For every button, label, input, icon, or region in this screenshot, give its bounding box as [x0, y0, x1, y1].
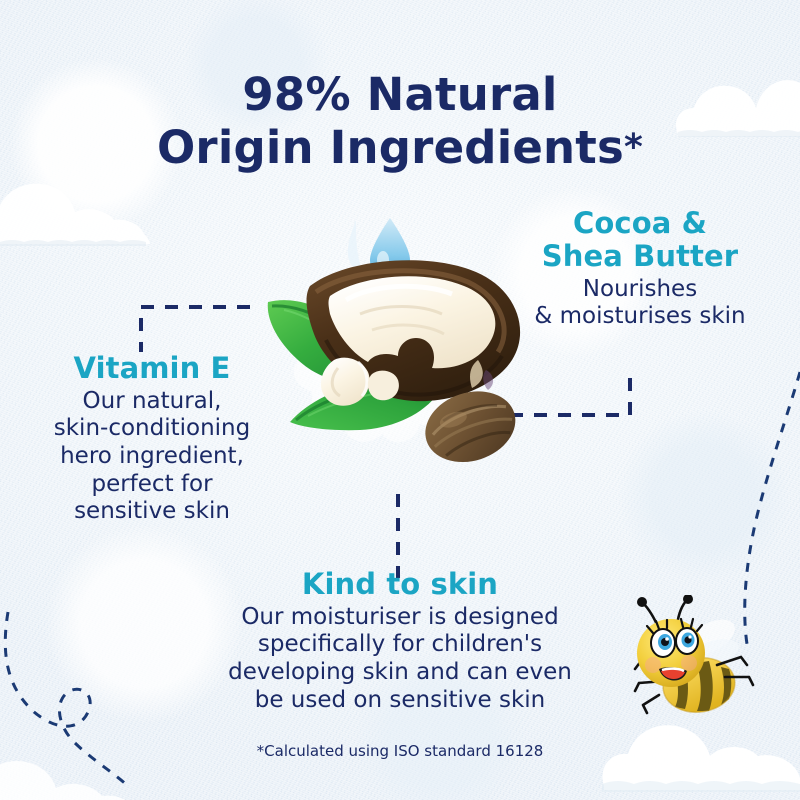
- callout-vitamin-e-line-3: hero ingredient,: [18, 443, 286, 471]
- callout-cocoa-shea-butter-body: Nourishes & moisturises skin: [496, 276, 784, 331]
- callout-kind-to-skin-body: Our moisturiser is designed specifically…: [180, 604, 620, 714]
- callout-vitamin-e-line-5: sensitive skin: [18, 498, 286, 526]
- callout-kind-to-skin-title: Kind to skin: [180, 568, 620, 601]
- footnote-iso-standard: *Calculated using ISO standard 16128: [0, 742, 800, 760]
- callout-vitamin-e-line-1: Our natural,: [18, 388, 286, 416]
- headline-asterisk: *: [624, 127, 643, 168]
- callout-vitamin-e-body: Our natural, skin-conditioning hero ingr…: [18, 388, 286, 526]
- callout-kind-to-skin-line-4: be used on sensitive skin: [180, 687, 620, 715]
- callout-cocoa-shea-butter-line-2: & moisturises skin: [496, 303, 784, 331]
- callout-kind-to-skin: Kind to skin Our moisturiser is designed…: [180, 568, 620, 714]
- callout-cocoa-shea-butter-title: Cocoa & Shea Butter: [496, 207, 784, 273]
- callout-kind-to-skin-line-2: specifically for children's: [180, 631, 620, 659]
- callout-vitamin-e-line-2: skin-conditioning: [18, 415, 286, 443]
- headline-line-2-text: Origin Ingredients: [157, 121, 624, 174]
- callout-vitamin-e-line-4: perfect for: [18, 471, 286, 499]
- callout-cocoa-shea-butter-line-1: Nourishes: [496, 276, 784, 304]
- callout-kind-to-skin-line-3: developing skin and can even: [180, 659, 620, 687]
- headline-line-1: 98% Natural: [242, 68, 557, 121]
- callout-cocoa-shea-butter: Cocoa & Shea Butter Nourishes & moisturi…: [496, 207, 784, 331]
- headline-line-2: Origin Ingredients*: [0, 121, 800, 174]
- ingredient-infographic-poster: 98% Natural Origin Ingredients* Vitamin …: [0, 0, 800, 800]
- callout-vitamin-e: Vitamin E Our natural, skin-conditioning…: [18, 352, 286, 526]
- page-title: 98% Natural Origin Ingredients*: [0, 68, 800, 174]
- callout-cocoa-shea-butter-title-line-2: Shea Butter: [496, 240, 784, 273]
- callout-cocoa-shea-butter-title-line-1: Cocoa &: [496, 207, 784, 240]
- callout-kind-to-skin-line-1: Our moisturiser is designed: [180, 604, 620, 632]
- callout-vitamin-e-title: Vitamin E: [18, 352, 286, 385]
